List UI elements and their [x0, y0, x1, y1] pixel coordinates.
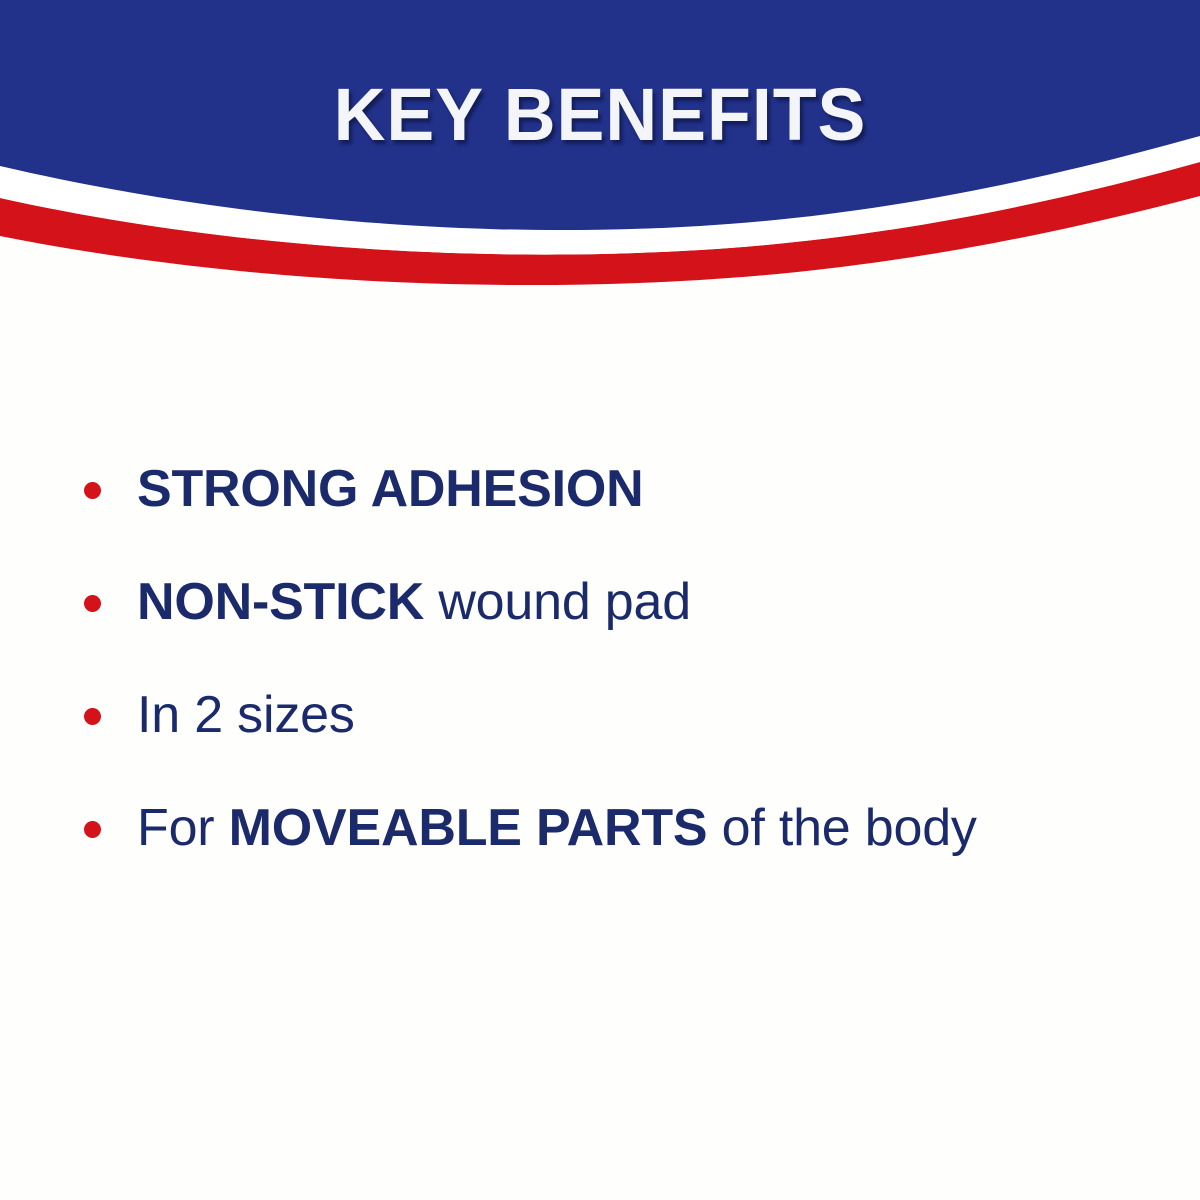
benefit-segment-bold: STRONG ADHESION — [137, 460, 643, 518]
benefit-label: For MOVEABLE PARTS of the body — [137, 799, 977, 857]
benefit-segment-regular: In 2 sizes — [137, 686, 355, 744]
bullet-dot-icon — [84, 821, 101, 838]
page-title: KEY BENEFITS — [18, 72, 1182, 158]
benefit-segment-regular: wound pad — [424, 573, 691, 631]
header-banner: KEY BENEFITS — [0, 0, 1200, 300]
benefit-item-non-stick-wound-pad: NON-STICK wound pad — [0, 545, 1200, 658]
bullet-dot-icon — [84, 595, 101, 612]
benefit-item-for-moveable-parts: For MOVEABLE PARTS of the body — [0, 771, 1200, 884]
benefit-segment-bold: MOVEABLE PARTS — [229, 799, 708, 857]
bullet-dot-icon — [84, 482, 101, 499]
benefit-segment-regular: For — [137, 799, 229, 857]
benefit-item-strong-adhesion: STRONG ADHESION — [0, 432, 1200, 545]
benefit-label: STRONG ADHESION — [137, 460, 643, 518]
benefit-segment-regular: of the body — [707, 799, 976, 857]
benefit-segment-bold: NON-STICK — [137, 573, 424, 631]
benefits-list: STRONG ADHESION NON-STICK wound pad In 2… — [0, 432, 1200, 884]
bullet-dot-icon — [84, 708, 101, 725]
benefit-label: In 2 sizes — [137, 686, 355, 744]
benefit-label: NON-STICK wound pad — [137, 573, 691, 631]
key-benefits-panel: KEY BENEFITS STRONG ADHESION NON-STICK w… — [0, 0, 1200, 1200]
benefit-item-in-2-sizes: In 2 sizes — [0, 658, 1200, 771]
